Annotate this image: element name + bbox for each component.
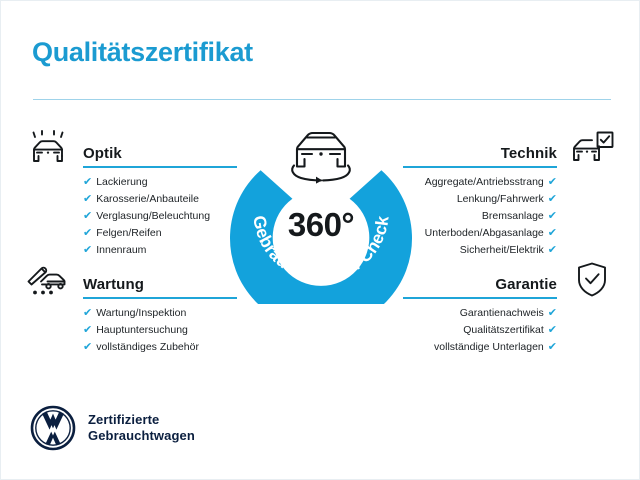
section-wartung-header: Wartung (25, 265, 255, 295)
list-item-label: Innenraum (96, 244, 146, 256)
check-icon: ✔ (83, 307, 92, 319)
list-item: ✔Wartung/Inspektion (83, 305, 199, 322)
check-icon: ✔ (548, 227, 557, 239)
check-icon: ✔ (548, 210, 557, 222)
section-optik-list: ✔Lackierung ✔Karosserie/Anbauteile ✔Verg… (83, 174, 210, 259)
check-icon: ✔ (548, 324, 557, 336)
list-item: Bremsanlage✔ (425, 208, 557, 225)
check-icon: ✔ (548, 244, 557, 256)
list-item: Garantienachweis✔ (434, 305, 557, 322)
check-icon: ✔ (83, 244, 92, 256)
list-item: Qualitätszertifikat✔ (434, 322, 557, 339)
section-technik-header: Technik (385, 134, 615, 164)
list-item: ✔Karosserie/Anbauteile (83, 191, 210, 208)
check-icon: ✔ (83, 210, 92, 222)
section-garantie-list: Garantienachweis✔ Qualitätszertifikat✔ v… (434, 305, 557, 356)
list-item-label: Lackierung (96, 176, 147, 188)
check-icon: ✔ (83, 341, 92, 353)
vw-logo (30, 405, 76, 451)
section-wartung-title: Wartung (83, 276, 144, 293)
list-item-label: Lenkung/Fahrwerk (457, 193, 544, 205)
section-garantie: Garantie Garantienachweis✔ Qualitätszert… (385, 265, 615, 295)
section-garantie-divider (403, 297, 557, 299)
quality-certificate-page: Qualitätszertifikat Optik ✔Lackierung ✔K… (0, 0, 640, 480)
list-item: vollständige Unterlagen✔ (434, 339, 557, 356)
car-rotation-icon (277, 121, 365, 185)
section-optik-header: Optik (25, 134, 255, 164)
list-item: ✔Felgen/Reifen (83, 225, 210, 242)
section-optik-divider (83, 166, 237, 168)
section-wartung: Wartung ✔Wartung/Inspektion ✔Hauptunters… (25, 265, 255, 295)
list-item: Unterboden/Abgasanlage✔ (425, 225, 557, 242)
footer-line-2: Gebrauchtwagen (88, 428, 195, 444)
list-item-label: Bremsanlage (482, 210, 544, 222)
section-optik: Optik ✔Lackierung ✔Karosserie/Anbauteile… (25, 134, 255, 164)
list-item-label: Hauptuntersuchung (96, 324, 188, 336)
list-item: Aggregate/Antriebsstrang✔ (425, 174, 557, 191)
section-optik-title: Optik (83, 145, 122, 162)
section-wartung-divider (83, 297, 237, 299)
section-technik: Technik Aggregate/Antriebsstrang✔ Lenkun… (385, 134, 615, 164)
list-item-label: Wartung/Inspektion (96, 307, 186, 319)
360-check-badge: Gebrauchtwagen-Check 360° (230, 122, 412, 304)
check-icon: ✔ (83, 324, 92, 336)
list-item-label: Qualitätszertifikat (463, 324, 544, 336)
footer-line-1: Zertifizierte (88, 412, 195, 428)
list-item-label: Verglasung/Beleuchtung (96, 210, 210, 222)
list-item: ✔Verglasung/Beleuchtung (83, 208, 210, 225)
check-icon: ✔ (548, 193, 557, 205)
list-item-label: Felgen/Reifen (96, 227, 161, 239)
section-wartung-list: ✔Wartung/Inspektion ✔Hauptuntersuchung ✔… (83, 305, 199, 356)
section-technik-divider (403, 166, 557, 168)
list-item: ✔Hauptuntersuchung (83, 322, 199, 339)
title-divider (33, 99, 611, 100)
list-item: ✔Innenraum (83, 242, 210, 259)
list-item: Lenkung/Fahrwerk✔ (425, 191, 557, 208)
section-garantie-title: Garantie (495, 276, 557, 293)
list-item-label: Sicherheit/Elektrik (460, 244, 544, 256)
list-item-label: Karosserie/Anbauteile (96, 193, 199, 205)
section-technik-title: Technik (501, 145, 557, 162)
check-icon: ✔ (83, 227, 92, 239)
list-item-label: vollständige Unterlagen (434, 341, 544, 353)
list-item-label: Garantienachweis (460, 307, 544, 319)
check-icon: ✔ (548, 341, 557, 353)
page-title: Qualitätszertifikat (32, 37, 253, 68)
check-icon: ✔ (83, 176, 92, 188)
section-technik-list: Aggregate/Antriebsstrang✔ Lenkung/Fahrwe… (425, 174, 557, 259)
list-item: Sicherheit/Elektrik✔ (425, 242, 557, 259)
check-icon: ✔ (83, 193, 92, 205)
list-item-label: vollständiges Zubehör (96, 341, 199, 353)
check-icon: ✔ (548, 176, 557, 188)
list-item-label: Unterboden/Abgasanlage (425, 227, 544, 239)
footer-brand: Zertifizierte Gebrauchtwagen (30, 405, 195, 451)
list-item: ✔Lackierung (83, 174, 210, 191)
footer-brand-text: Zertifizierte Gebrauchtwagen (88, 412, 195, 444)
section-garantie-header: Garantie (385, 265, 615, 295)
list-item-label: Aggregate/Antriebsstrang (425, 176, 544, 188)
check-icon: ✔ (548, 307, 557, 319)
list-item: ✔vollständiges Zubehör (83, 339, 199, 356)
badge-center-label: 360° (230, 206, 412, 244)
